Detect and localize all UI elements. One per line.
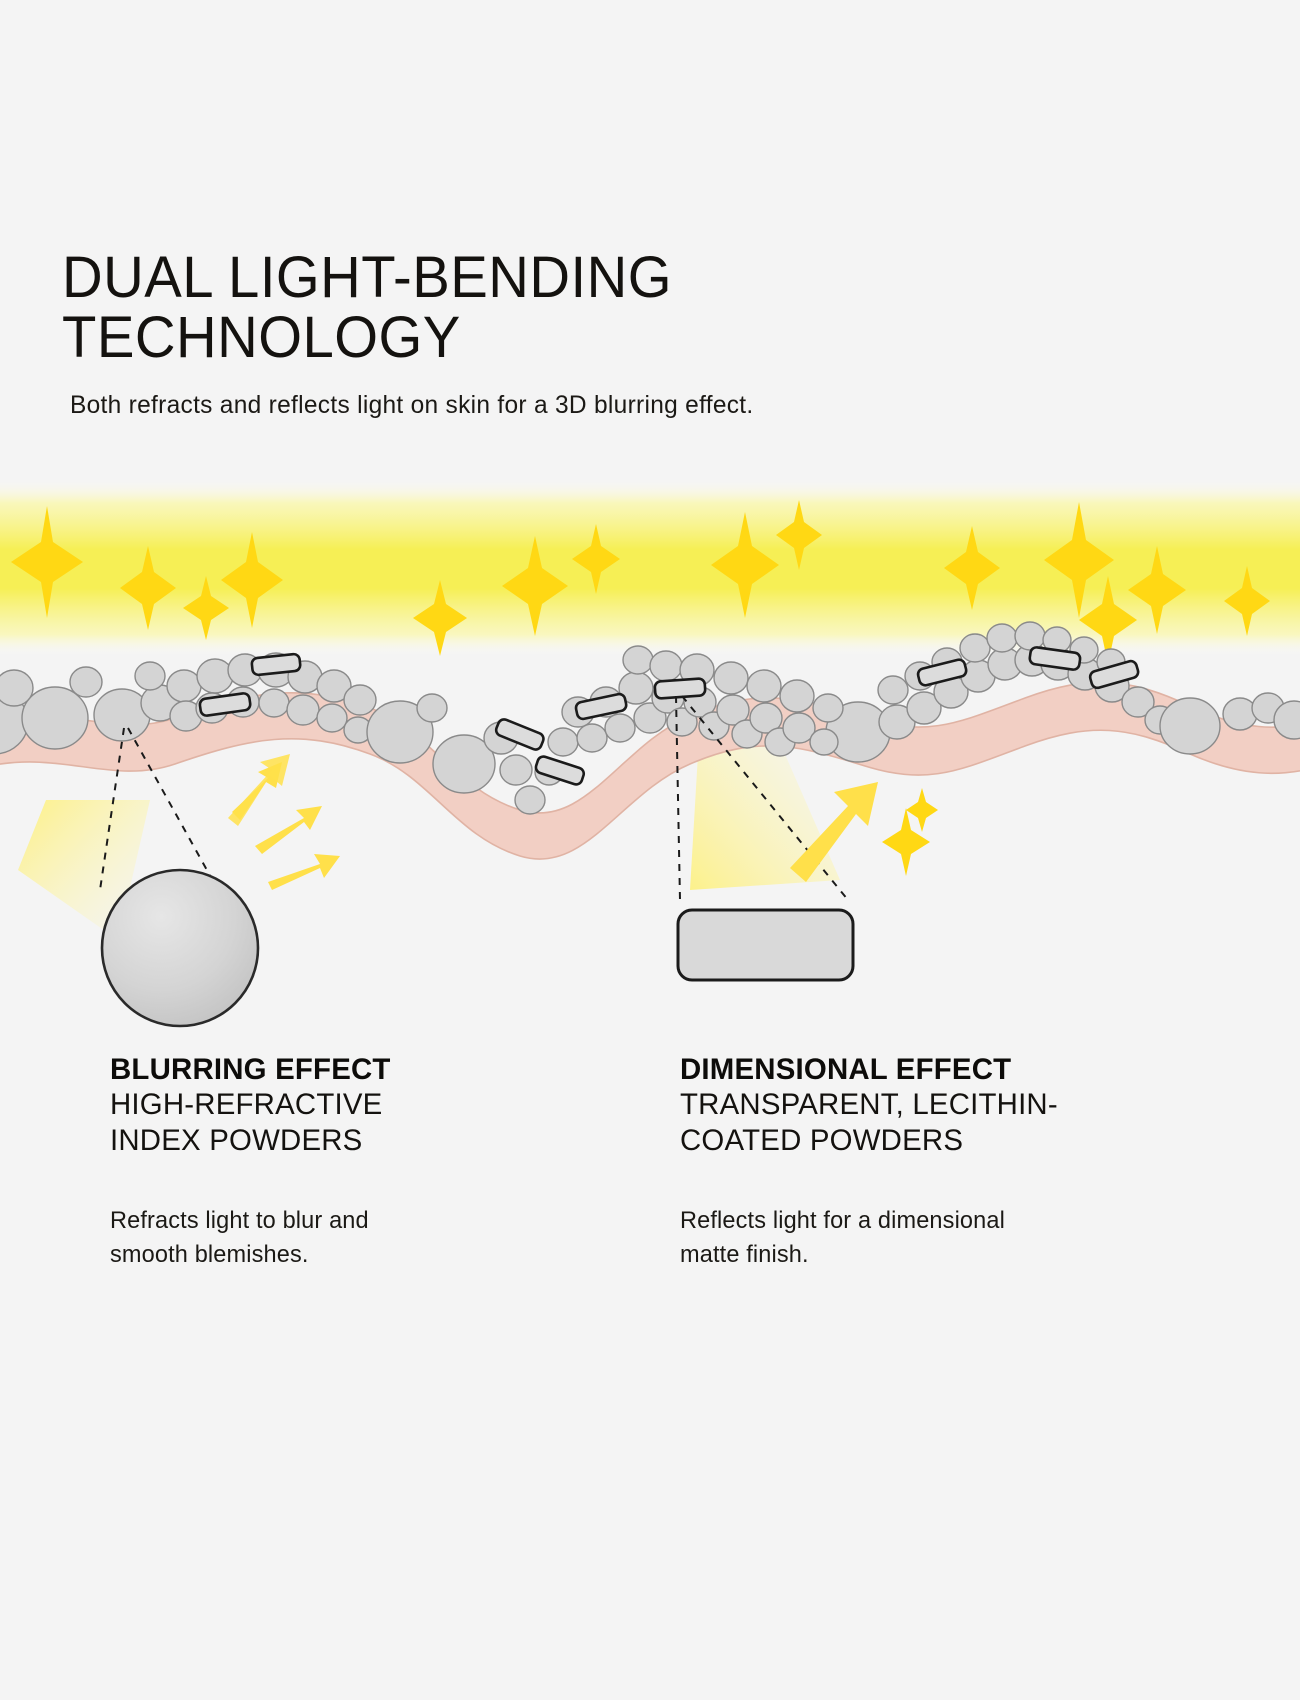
blurring-effect-heading: BLURRING EFFECT <box>110 1052 620 1087</box>
illustration <box>0 470 1300 1050</box>
reflection-sparkles <box>882 788 938 876</box>
dimensional-effect-body: Reflects light for a dimensional matte f… <box>680 1204 1209 1272</box>
caption-column-blurring: BLURRING EFFECT HIGH-REFRACTIVE INDEX PO… <box>110 1052 630 1272</box>
caption-column-dimensional: DIMENSIONAL EFFECT TRANSPARENT, LECITHIN… <box>680 1052 1220 1272</box>
blurring-effect-body: Refracts light to blur and smooth blemis… <box>110 1204 620 1272</box>
refraction-arrows <box>228 754 340 890</box>
dimensional-effect-subheading: TRANSPARENT, LECITHIN- COATED POWDERS <box>680 1087 1209 1158</box>
dimensional-effect-heading: DIMENSIONAL EFFECT <box>680 1052 1209 1087</box>
page-title: DUAL LIGHT-BENDING TECHNOLOGY <box>62 248 1207 369</box>
page-subtitle: Both refracts and reflects light on skin… <box>70 391 1219 420</box>
infographic-page: DUAL LIGHT-BENDING TECHNOLOGY Both refra… <box>0 0 1300 1700</box>
callout-sphere <box>102 870 258 1026</box>
header-block: DUAL LIGHT-BENDING TECHNOLOGY Both refra… <box>62 248 1242 420</box>
callout-plate <box>678 910 853 980</box>
captions-block: BLURRING EFFECT HIGH-REFRACTIVE INDEX PO… <box>0 1052 1300 1352</box>
blurring-effect-subheading: HIGH-REFRACTIVE INDEX POWDERS <box>110 1087 620 1158</box>
